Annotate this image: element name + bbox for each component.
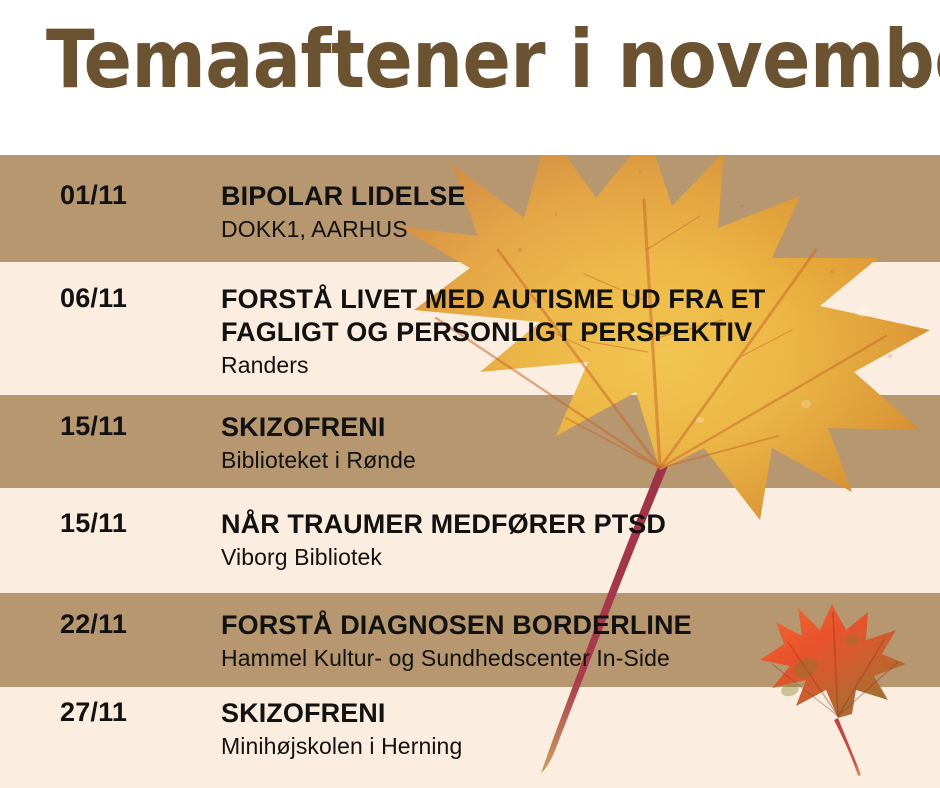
event-details: SKIZOFRENI Biblioteket i Rønde xyxy=(221,411,921,475)
event-title: FORSTÅ DIAGNOSEN BORDERLINE xyxy=(221,609,921,642)
title-area: Temaaftener i november xyxy=(0,0,940,155)
event-title: BIPOLAR LIDELSE xyxy=(221,180,921,213)
event-details: BIPOLAR LIDELSE DOKK1, AARHUS xyxy=(221,180,921,244)
event-date: 27/11 xyxy=(60,697,210,728)
event-date: 06/11 xyxy=(60,283,210,314)
event-venue: Hammel Kultur- og Sundhedscenter In-Side xyxy=(221,644,921,673)
event-venue: DOKK1, AARHUS xyxy=(221,215,921,244)
event-date: 15/11 xyxy=(60,411,210,442)
page-title: Temaaftener i november xyxy=(46,20,907,100)
event-venue: Biblioteket i Rønde xyxy=(221,446,921,475)
event-title: NÅR TRAUMER MEDFØRER PTSD xyxy=(221,508,921,541)
event-details: SKIZOFRENI Minihøjskolen i Herning xyxy=(221,697,921,761)
poster-canvas: Temaaftener i november 01/11 BIPOLAR LID… xyxy=(0,0,940,788)
event-venue: Viborg Bibliotek xyxy=(221,543,921,572)
event-venue: Minihøjskolen i Herning xyxy=(221,732,921,761)
event-date: 22/11 xyxy=(60,609,210,640)
event-date: 15/11 xyxy=(60,508,210,539)
event-details: FORSTÅ LIVET MED AUTISME UD FRA ET FAGLI… xyxy=(221,283,921,380)
event-venue: Randers xyxy=(221,351,921,380)
event-details: NÅR TRAUMER MEDFØRER PTSD Viborg Bibliot… xyxy=(221,508,921,572)
event-details: FORSTÅ DIAGNOSEN BORDERLINE Hammel Kultu… xyxy=(221,609,921,673)
event-title: SKIZOFRENI xyxy=(221,697,921,730)
event-title: SKIZOFRENI xyxy=(221,411,921,444)
event-date: 01/11 xyxy=(60,180,210,211)
event-title: FORSTÅ LIVET MED AUTISME UD FRA ET FAGLI… xyxy=(221,283,921,349)
